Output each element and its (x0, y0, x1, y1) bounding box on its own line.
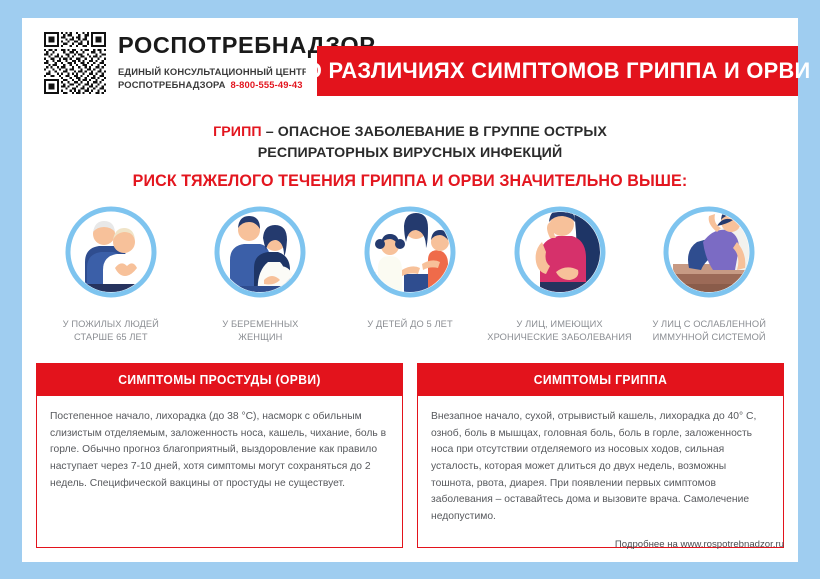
flu-panel-header: СИМПТОМЫ ГРИППА (418, 364, 783, 396)
risk-group-caption: У ЛИЦ С ОСЛАБЛЕННОЙ ИММУННОЙ СИСТЕМОЙ (652, 318, 766, 344)
risk-group-caption: У ПОЖИЛЫХ ЛЮДЕЙ СТАРШЕ 65 ЛЕТ (63, 318, 159, 344)
organization-name: РОСПОТРЕБНАДЗОРА (118, 79, 226, 90)
man-with-chronic-illness-illustration (506, 198, 614, 306)
flu-panel-body: Внезапное начало, сухой, отрывистый каше… (418, 396, 783, 547)
mother-with-children-illustration (356, 198, 464, 306)
intro-line-1: ГРИПП – ОПАСНОЕ ЗАБОЛЕВАНИЕ В ГРУППЕ ОСТ… (22, 122, 798, 143)
pregnant-couple-illustration (206, 198, 314, 306)
poster-title: О РАЗЛИЧИЯХ СИМПТОМОВ ГРИППА И ОРВИ (305, 58, 811, 84)
poster-card: РОСПОТРЕБНАДЗОР ЕДИНЫЙ КОНСУЛЬТАЦИОННЫЙ … (22, 18, 798, 562)
title-banner: О РАЗЛИЧИЯХ СИМПТОМОВ ГРИППА И ОРВИ (317, 46, 798, 96)
flu-symptoms-panel: СИМПТОМЫ ГРИППА Внезапное начало, сухой,… (417, 363, 784, 548)
risk-headline: РИСК ТЯЖЕЛОГО ТЕЧЕНИЯ ГРИППА И ОРВИ ЗНАЧ… (30, 172, 790, 191)
risk-group-caption: У БЕРЕМЕННЫХ ЖЕНЩИН (222, 318, 298, 344)
person-resting-in-bed-illustration (655, 198, 763, 306)
intro-line-1-rest: – ОПАСНОЕ ЗАБОЛЕВАНИЕ В ГРУППЕ ОСТРЫХ (262, 124, 607, 140)
intro-line-2: РЕСПИРАТОРНЫХ ВИРУСНЫХ ИНФЕКЦИЙ (22, 143, 798, 164)
risk-group-caption: У ДЕТЕЙ ДО 5 ЛЕТ (367, 318, 453, 331)
intro-highlight: ГРИПП (213, 124, 262, 140)
cold-panel-body: Постепенное начало, лихорадка (до 38 °С)… (37, 396, 402, 547)
poster-header: РОСПОТРЕБНАДЗОР ЕДИНЫЙ КОНСУЛЬТАЦИОННЫЙ … (22, 18, 798, 96)
flu-panel-title: СИМПТОМЫ ГРИППА (534, 373, 667, 387)
risk-group-caption: У ЛИЦ, ИМЕЮЩИХ ХРОНИЧЕСКИЕ ЗАБОЛЕВАНИЯ (487, 318, 632, 344)
risk-group-item: У ЛИЦ, ИМЕЮЩИХ ХРОНИЧЕСКИЕ ЗАБОЛЕВАНИЯ (485, 198, 635, 344)
footer-note: Подробнее на www.rospotrebnadzor.ru (22, 539, 784, 550)
cold-panel-header: СИМПТОМЫ ПРОСТУДЫ (ОРВИ) (37, 364, 402, 396)
risk-group-item: У ЛИЦ С ОСЛАБЛЕННОЙ ИММУННОЙ СИСТЕМОЙ (634, 198, 784, 344)
risk-groups-row: У ПОЖИЛЫХ ЛЮДЕЙ СТАРШЕ 65 ЛЕТ (36, 198, 784, 344)
qr-code (44, 32, 106, 94)
risk-group-item: У ДЕТЕЙ ДО 5 ЛЕТ (335, 198, 485, 344)
cold-panel-title: СИМПТОМЫ ПРОСТУДЫ (ОРВИ) (118, 373, 321, 387)
risk-group-item: У ПОЖИЛЫХ ЛЮДЕЙ СТАРШЕ 65 ЛЕТ (36, 198, 186, 344)
cold-symptoms-panel: СИМПТОМЫ ПРОСТУДЫ (ОРВИ) Постепенное нач… (36, 363, 403, 548)
intro-block: ГРИПП – ОПАСНОЕ ЗАБОЛЕВАНИЕ В ГРУППЕ ОСТ… (22, 122, 798, 191)
elderly-couple-illustration (57, 198, 165, 306)
symptom-panels: СИМПТОМЫ ПРОСТУДЫ (ОРВИ) Постепенное нач… (36, 363, 784, 548)
hotline-phone: 8-800-555-49-43 (231, 79, 303, 90)
risk-group-item: У БЕРЕМЕННЫХ ЖЕНЩИН (186, 198, 336, 344)
